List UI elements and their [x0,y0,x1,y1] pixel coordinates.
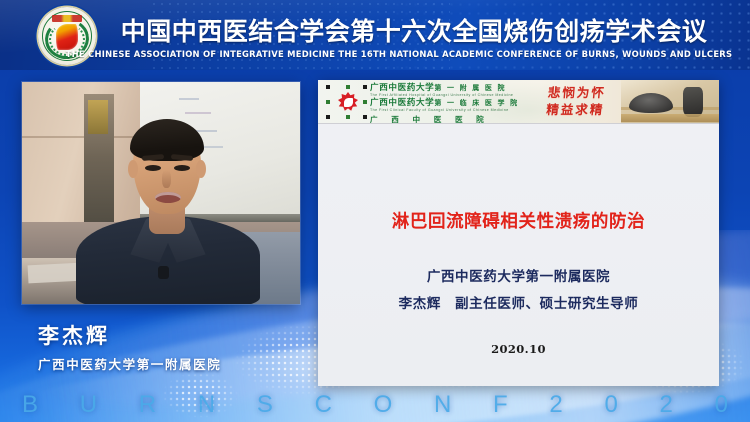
selection-handle[interactable] [363,100,367,104]
speaker-webcam-feed[interactable] [22,82,300,304]
speaker-figure [86,108,246,304]
slide-presenter: 李杰辉 副主任医师、硕士研究生导师 [318,292,719,312]
conference-title-cn: 中国中西医结合学会第十六次全国烧伤创疡学术会议 [0,12,750,48]
calligraphy-line2: 精益求精 [530,102,621,119]
slide-title: 淋巴回流障碍相关性溃疡的防治 [318,208,719,233]
slide-date: 2020.10 [318,342,719,356]
selection-handle[interactable] [363,115,367,119]
selection-handle[interactable] [326,85,330,89]
herbal-mortar-photo [621,80,719,124]
conference-title-en: THE CHINESE ASSOCIATION OF INTEGRATIVE M… [0,49,750,59]
presentation-slide[interactable]: 广西中医药大学第 一 附 属 医 院 The First Affiliated … [318,80,719,386]
selection-handle[interactable] [326,100,330,104]
slide-hospital-banner: 广西中医药大学第 一 附 属 医 院 The First Affiliated … [318,80,719,124]
conference-header-banner: 中国中西医结合学会第十六次全国烧伤创疡学术会议 THE CHINESE ASSO… [0,0,750,70]
calligraphy-line1: 悲悯为怀 [531,85,622,102]
calligraphy-motto: 悲悯为怀 精益求精 [529,85,622,121]
selection-handle[interactable] [363,85,367,89]
hospital-red-emblem-icon [334,88,362,116]
selection-handle[interactable] [326,115,330,119]
speaker-name: 李杰辉 [38,325,221,348]
speaker-affiliation: 广西中医药大学第一附属医院 [38,354,221,373]
hospital-name-line1-en: The First Affiliated Hospital of Guangxi… [370,93,519,97]
hospital-name-line2: 广西中医药大学第 一 临 床 医 学 院 [370,99,519,108]
hospital-name-line2-en: The First Clinical Faculty of Guangxi Un… [370,108,519,112]
hospital-name-line1: 广西中医药大学第 一 附 属 医 院 [370,84,519,93]
selection-handle[interactable] [346,115,350,119]
speaker-lower-third: 李杰辉 广西中医药大学第一附属医院 [38,325,221,373]
selection-handle[interactable] [346,85,350,89]
slide-body: 淋巴回流障碍相关性溃疡的防治 广西中医药大学第一附属医院 李杰辉 副主任医师、硕… [318,124,719,386]
broadcast-stage: 中国中西医结合学会第十六次全国烧伤创疡学术会议 THE CHINESE ASSO… [0,0,750,422]
lapel-microphone-icon [158,266,169,279]
slide-organization: 广西中医药大学第一附属医院 [318,265,719,285]
